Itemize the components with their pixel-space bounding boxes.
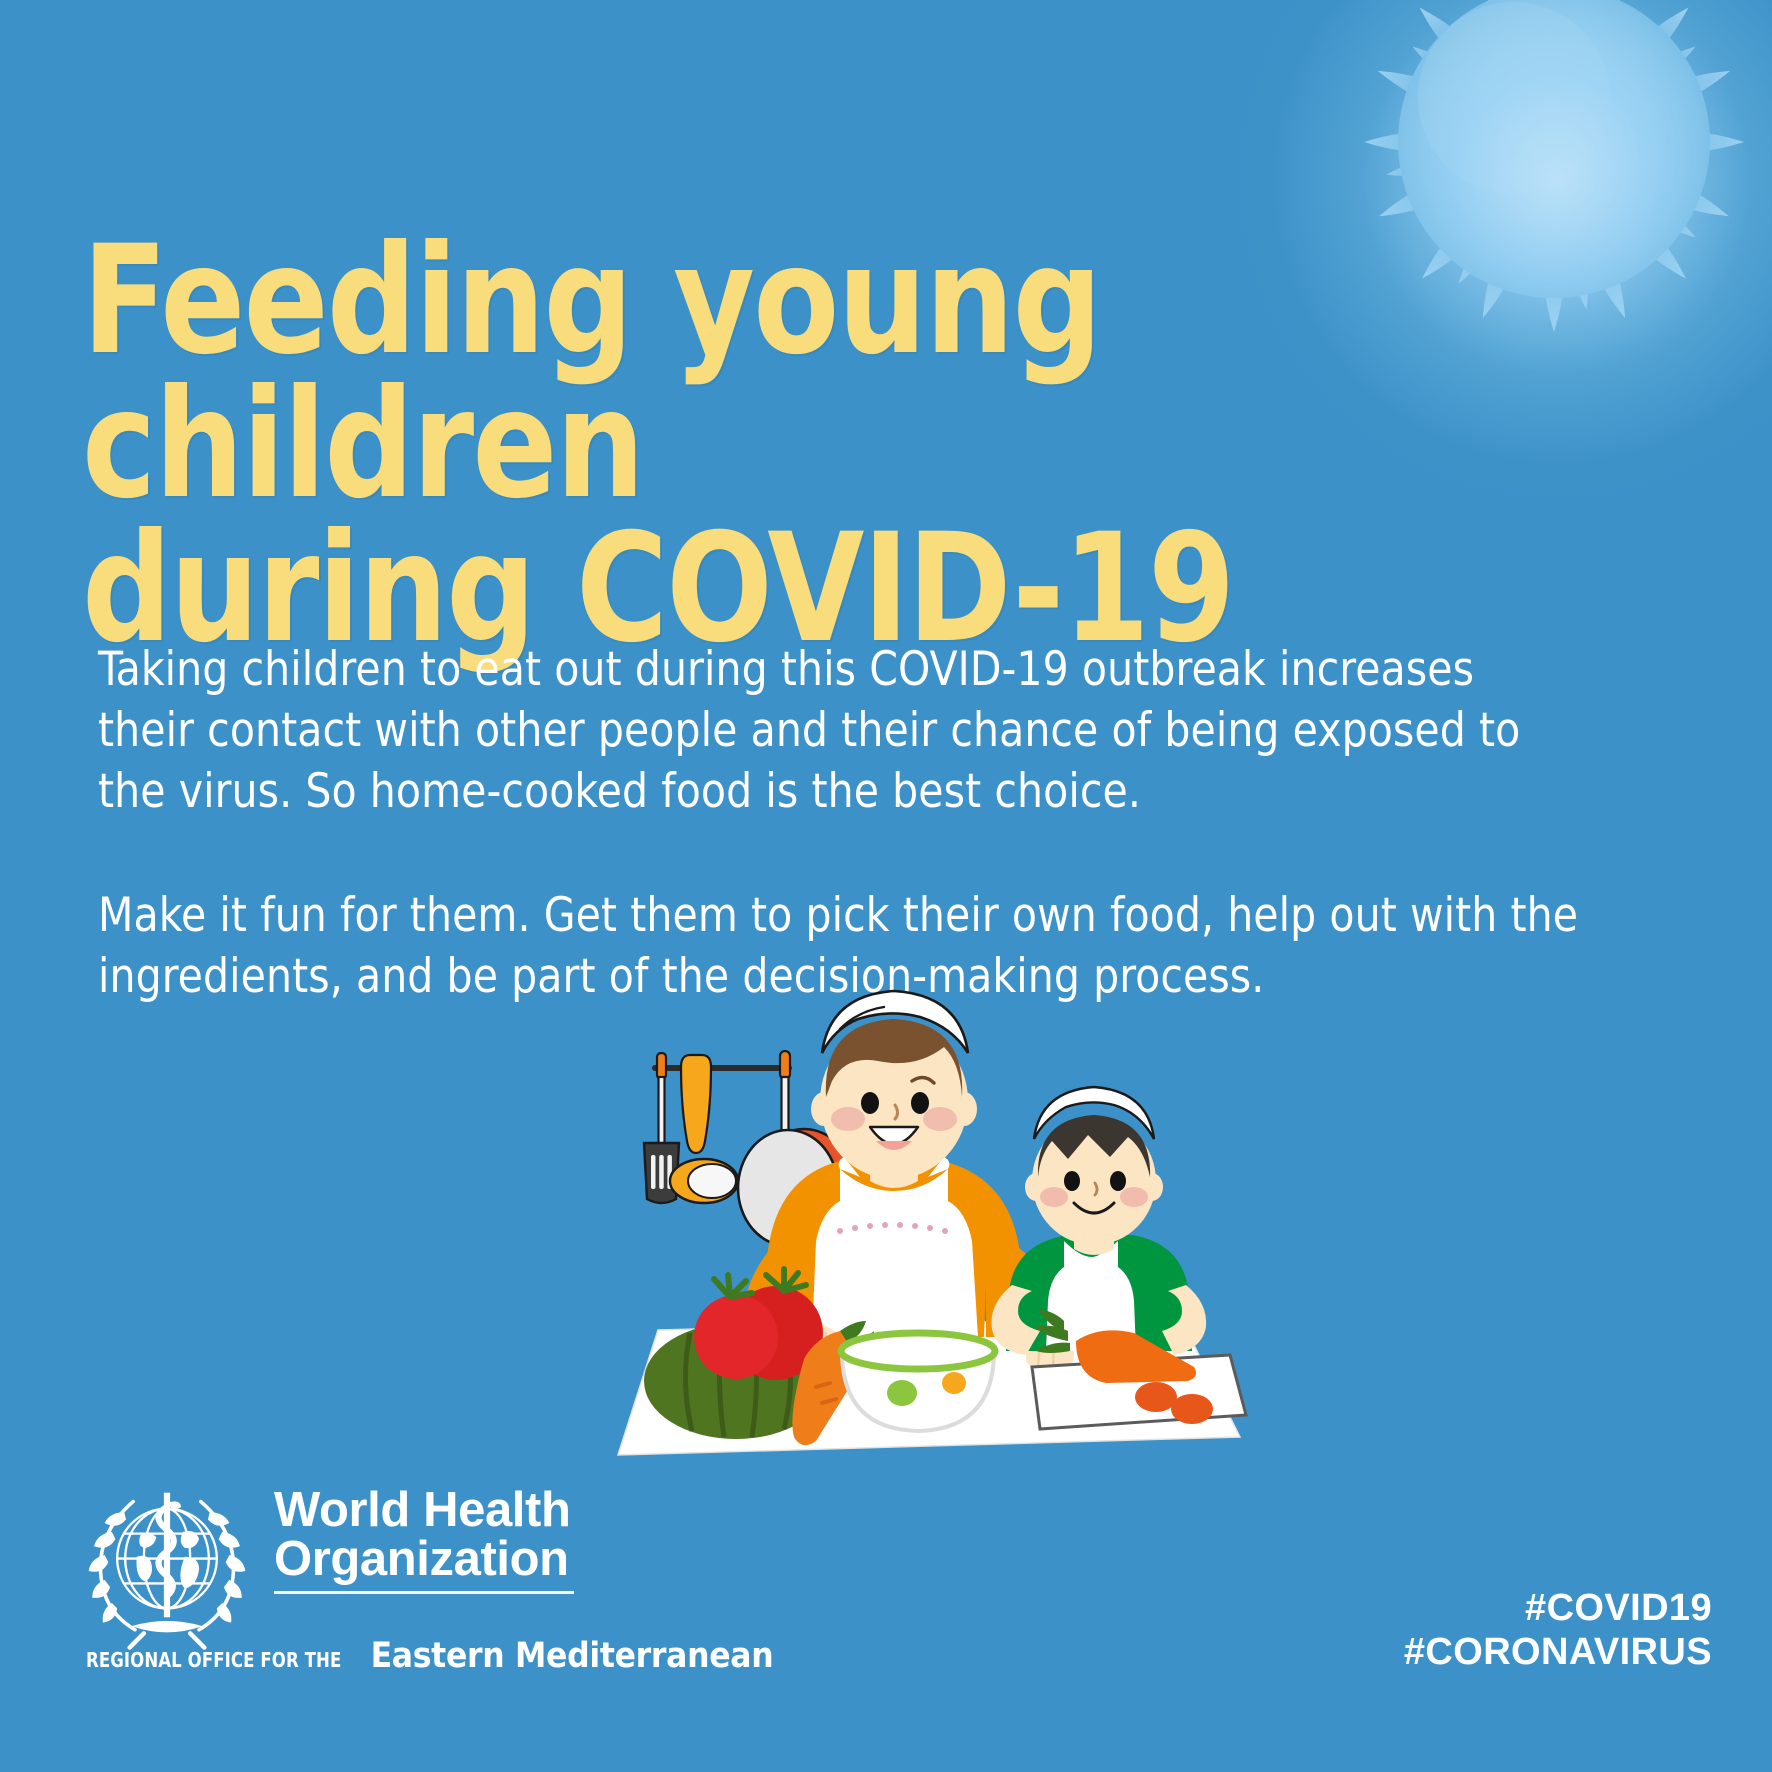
ladle-icon bbox=[670, 1055, 738, 1203]
hashtag-covid19: #COVID19 bbox=[1112, 1586, 1712, 1630]
poster-canvas: Feeding young children during COVID-19 T… bbox=[0, 0, 1772, 1772]
who-line-1: World Health bbox=[274, 1486, 594, 1535]
regional-office-name: Eastern Mediterranean bbox=[371, 1636, 774, 1676]
hashtag-block: #COVID19 #CORONAVIRUS bbox=[1112, 1586, 1712, 1675]
body-paragraph-1: Taking children to eat out during this C… bbox=[98, 639, 1582, 822]
cooking-illustration-svg bbox=[540, 985, 1250, 1475]
who-divider bbox=[274, 1591, 574, 1594]
who-emblem-icon bbox=[78, 1482, 256, 1660]
boy-figure bbox=[991, 1087, 1206, 1355]
page-title: Feeding young children during COVID-19 bbox=[82, 229, 1440, 661]
headline-line-1: Feeding young children bbox=[82, 229, 1440, 517]
who-logo: World Health Organization REGIONAL OFFIC… bbox=[78, 1482, 598, 1692]
carrot-slice bbox=[1135, 1382, 1177, 1412]
hashtag-coronavirus: #CORONAVIRUS bbox=[1112, 1630, 1712, 1674]
carrot-slice bbox=[1171, 1394, 1213, 1424]
virus-body bbox=[1398, 0, 1710, 298]
who-wordmark: World Health Organization bbox=[274, 1486, 594, 1594]
regional-office-prefix: REGIONAL OFFICE FOR THE bbox=[86, 1648, 341, 1672]
cooking-illustration bbox=[540, 985, 1250, 1475]
who-line-2: Organization bbox=[274, 1535, 594, 1584]
who-regional-office: REGIONAL OFFICE FOR THEEastern Mediterra… bbox=[86, 1636, 606, 1676]
